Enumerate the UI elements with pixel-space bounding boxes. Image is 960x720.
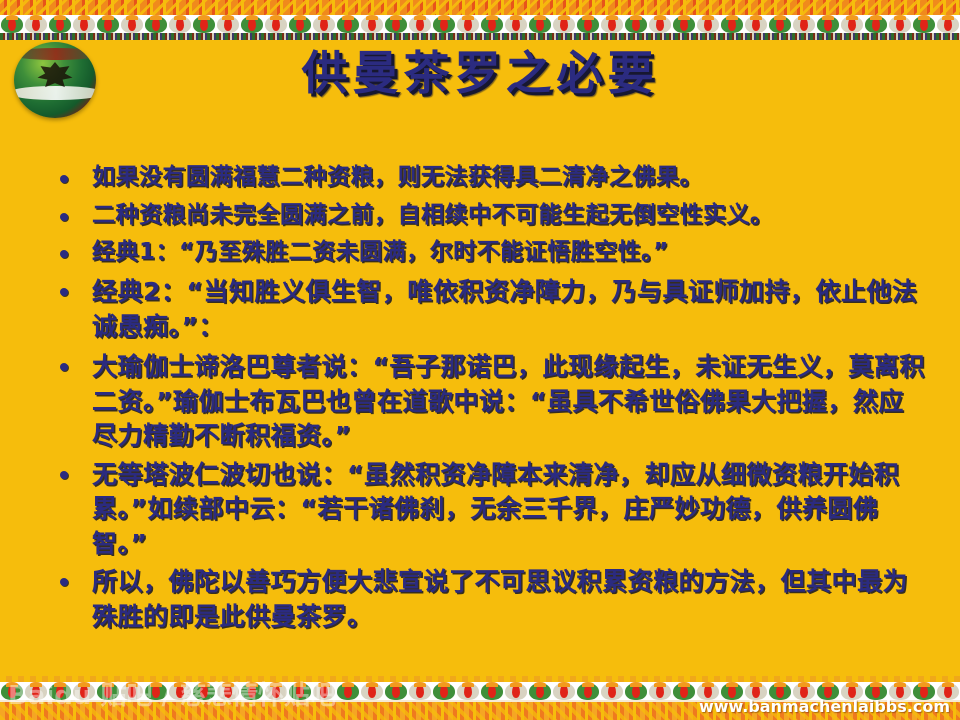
- border-dark-band: [0, 33, 960, 40]
- petal-motif: [240, 682, 264, 700]
- petal-row: [0, 15, 960, 33]
- petal-motif: [384, 682, 408, 700]
- bullet-text: 大瑜伽士谛洛巴尊者说：“吾子那诺巴，此现缘起生，未证无生义，莫离积二资。”瑜伽士…: [92, 352, 925, 450]
- list-item: 无等塔波仁波切也说：“虽然积资净障本来清净，却应从细微资粮开始积累。”如续部中云…: [48, 458, 928, 562]
- petal-motif: [120, 682, 144, 700]
- petal-motif: [288, 15, 312, 33]
- petal-motif: [576, 15, 600, 33]
- petal-motif: [312, 15, 336, 33]
- petal-motif: [912, 15, 936, 33]
- list-item: 经典1：“乃至殊胜二资未圆满，尔时不能证悟胜空性。”: [48, 237, 928, 269]
- bullet-dot-icon: [60, 288, 68, 296]
- petal-motif: [624, 15, 648, 33]
- petal-motif: [456, 15, 480, 33]
- petal-motif: [264, 682, 288, 700]
- list-item: 大瑜伽士谛洛巴尊者说：“吾子那诺巴，此现缘起生，未证无生义，莫离积二资。”瑜伽士…: [48, 350, 928, 454]
- petal-motif: [936, 15, 960, 33]
- slide-body: 如果没有圆满福慧二种资粮，则无法获得具二清净之佛果。 二种资粮尚未完全圆满之前，…: [48, 162, 928, 640]
- petal-motif: [360, 682, 384, 700]
- petal-motif: [192, 15, 216, 33]
- petal-motif: [168, 15, 192, 33]
- petal-motif: [264, 15, 288, 33]
- petal-motif: [24, 682, 48, 700]
- bullet-list: 如果没有圆满福慧二种资粮，则无法获得具二清净之佛果。 二种资粮尚未完全圆满之前，…: [48, 162, 928, 634]
- petal-motif: [720, 15, 744, 33]
- petal-motif: [624, 682, 648, 700]
- petal-motif: [600, 15, 624, 33]
- petal-motif: [216, 682, 240, 700]
- petal-motif: [504, 15, 528, 33]
- petal-motif: [288, 682, 312, 700]
- petal-motif: [168, 682, 192, 700]
- bullet-text: 无等塔波仁波切也说：“虽然积资净障本来清净，却应从细微资粮开始积累。”如续部中云…: [92, 460, 899, 558]
- petal-motif: [336, 682, 360, 700]
- petal-motif: [144, 682, 168, 700]
- petal-motif: [408, 15, 432, 33]
- bullet-dot-icon: [60, 471, 68, 479]
- petal-motif: [504, 682, 528, 700]
- petal-motif: [840, 15, 864, 33]
- bullet-dot-icon: [60, 363, 68, 371]
- petal-motif: [672, 682, 696, 700]
- petal-motif: [696, 15, 720, 33]
- petal-motif: [552, 15, 576, 33]
- petal-motif: [144, 15, 168, 33]
- petal-motif: [96, 682, 120, 700]
- list-item: 经典2：“当知胜义俱生智，唯依积资净障力，乃与具证师加持，依止他法诚愚痴。”：: [48, 275, 928, 344]
- petal-motif: [864, 15, 888, 33]
- petal-motif: [432, 682, 456, 700]
- petal-motif: [336, 15, 360, 33]
- petal-motif: [744, 15, 768, 33]
- petal-motif: [648, 15, 672, 33]
- petal-motif: [384, 15, 408, 33]
- petal-motif: [408, 682, 432, 700]
- petal-motif: [456, 682, 480, 700]
- site-url-watermark: www.banmachenlaibbs.com: [699, 697, 950, 716]
- petal-motif: [72, 682, 96, 700]
- petal-motif: [432, 15, 456, 33]
- slide-title: 供曼茶罗之必要: [0, 48, 960, 99]
- bullet-dot-icon: [60, 250, 68, 258]
- bullet-dot-icon: [60, 578, 68, 586]
- petal-motif: [792, 15, 816, 33]
- petal-motif: [0, 682, 24, 700]
- bullet-text: 所以，佛陀以善巧方便大悲宣说了不可思议积累资粮的方法，但其中最为殊胜的即是此供曼…: [92, 567, 908, 631]
- top-decorative-border: [0, 0, 960, 40]
- bullet-dot-icon: [60, 213, 68, 221]
- petal-motif: [648, 682, 672, 700]
- bullet-text: 如果没有圆满福慧二种资粮，则无法获得具二清净之佛果。: [92, 164, 703, 190]
- petal-motif: [24, 15, 48, 33]
- bullet-text: 经典1：“乃至殊胜二资未圆满，尔时不能证悟胜空性。”: [92, 239, 669, 265]
- petal-motif: [312, 682, 336, 700]
- petal-motif: [360, 15, 384, 33]
- petal-motif: [672, 15, 696, 33]
- petal-motif: [120, 15, 144, 33]
- petal-motif: [96, 15, 120, 33]
- petal-motif: [0, 15, 24, 33]
- petal-motif: [888, 15, 912, 33]
- petal-motif: [48, 15, 72, 33]
- petal-motif: [600, 682, 624, 700]
- petal-motif: [768, 15, 792, 33]
- border-zigzag-band: [0, 0, 960, 15]
- list-item: 如果没有圆满福慧二种资粮，则无法获得具二清净之佛果。: [48, 162, 928, 194]
- petal-motif: [480, 15, 504, 33]
- bullet-text: 经典2：“当知胜义俱生智，唯依积资净障力，乃与具证师加持，依止他法诚愚痴。”：: [92, 277, 917, 341]
- petal-motif: [552, 682, 576, 700]
- petal-motif: [528, 15, 552, 33]
- petal-motif: [528, 682, 552, 700]
- petal-motif: [192, 682, 216, 700]
- petal-motif: [48, 682, 72, 700]
- petal-motif: [576, 682, 600, 700]
- border-petal-band: [0, 15, 960, 33]
- petal-motif: [480, 682, 504, 700]
- bullet-text: 二种资粮尚未完全圆满之前，自相续中不可能生起无倒空性实义。: [92, 202, 774, 228]
- petal-motif: [216, 15, 240, 33]
- petal-motif: [72, 15, 96, 33]
- petal-motif: [240, 15, 264, 33]
- list-item: 二种资粮尚未完全圆满之前，自相续中不可能生起无倒空性实义。: [48, 200, 928, 232]
- presentation-slide: 供曼茶罗之必要 如果没有圆满福慧二种资粮，则无法获得具二清净之佛果。 二种资粮尚…: [0, 0, 960, 720]
- bullet-dot-icon: [60, 175, 68, 183]
- list-item: 所以，佛陀以善巧方便大悲宣说了不可思议积累资粮的方法，但其中最为殊胜的即是此供曼…: [48, 565, 928, 634]
- petal-motif: [816, 15, 840, 33]
